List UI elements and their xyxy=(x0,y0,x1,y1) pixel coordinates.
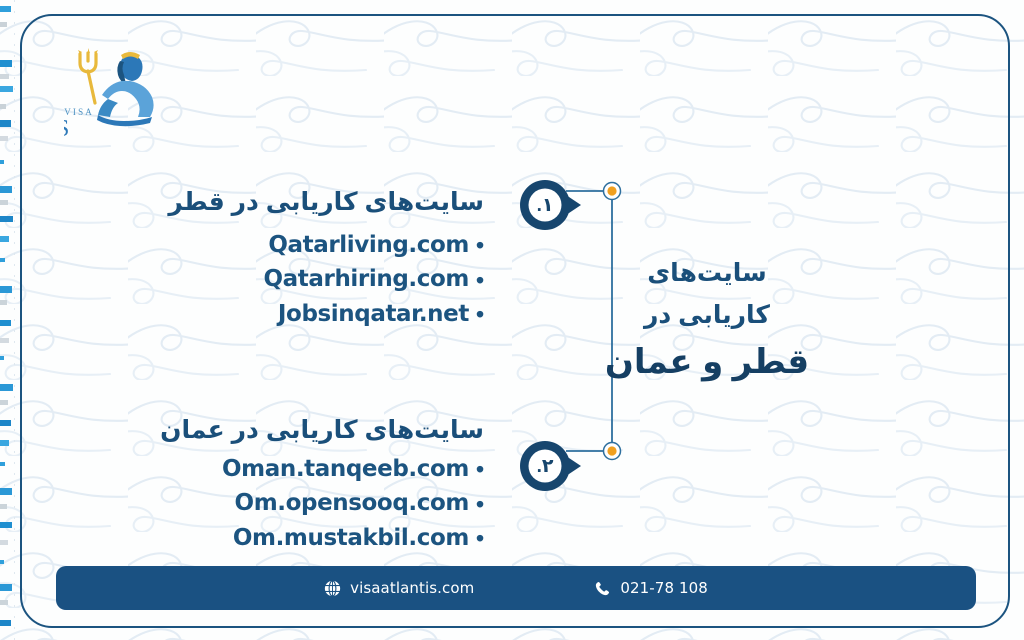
globe-icon xyxy=(324,580,341,597)
list-item[interactable]: •Om.opensooq.com xyxy=(184,486,484,520)
footer-website-text: visaatlantis.com xyxy=(350,579,474,597)
rail-node-1 xyxy=(604,183,621,200)
infographic-page: VISA ATLANTIS ۱. xyxy=(0,0,1024,640)
group-qatar-heading: سایت‌های کاریابی در قطر xyxy=(184,184,484,220)
list-item[interactable]: •Qatarliving.com xyxy=(184,228,484,262)
main-title: سایت‌های کاریابی در قطر و عمان xyxy=(602,252,812,386)
site-link[interactable]: Qatarhiring.com xyxy=(264,263,469,296)
group-qatar: سایت‌های کاریابی در قطر •Qatarliving.com… xyxy=(184,184,484,331)
phone-icon xyxy=(594,580,611,597)
poseidon-figure xyxy=(97,52,154,126)
site-link[interactable]: Oman.tanqeeb.com xyxy=(222,453,469,486)
group-oman: سایت‌های کاریابی در عمان •Oman.tanqeeb.c… xyxy=(184,412,484,555)
bullet-icon: • xyxy=(476,453,484,486)
rail-node-2 xyxy=(604,443,621,460)
list-item[interactable]: •Om.mustakbil.com xyxy=(184,521,484,555)
left-edge-dash-decoration xyxy=(0,0,16,640)
poseidon-trident-logo: VISA ATLANTIS xyxy=(64,41,174,141)
list-item[interactable]: •Oman.tanqeeb.com xyxy=(184,452,484,486)
group-oman-heading: سایت‌های کاریابی در عمان xyxy=(184,412,484,448)
logo-atlantis-text: ATLANTIS xyxy=(64,116,70,141)
bullet-icon: • xyxy=(476,522,484,555)
site-link[interactable]: Qatarliving.com xyxy=(268,229,469,262)
site-link[interactable]: Om.mustakbil.com xyxy=(233,522,469,555)
step-marker-1[interactable]: ۱. xyxy=(519,179,583,231)
bullet-icon: • xyxy=(476,488,484,521)
site-link[interactable]: Om.opensooq.com xyxy=(235,487,469,520)
footer-website[interactable]: visaatlantis.com xyxy=(324,579,474,597)
bullet-icon: • xyxy=(476,298,484,331)
step-marker-2[interactable]: ۲. xyxy=(519,440,583,492)
site-link[interactable]: Jobsinqatar.net xyxy=(278,298,469,331)
main-card: VISA ATLANTIS ۱. xyxy=(20,14,1010,628)
list-item[interactable]: •Qatarhiring.com xyxy=(184,262,484,296)
main-title-line-3: قطر و عمان xyxy=(602,338,812,386)
group-qatar-list: •Qatarliving.com •Qatarhiring.com •Jobsi… xyxy=(184,228,484,331)
group-oman-list: •Oman.tanqeeb.com •Om.opensooq.com •Om.m… xyxy=(184,452,484,555)
trident-icon xyxy=(78,48,98,103)
list-item[interactable]: •Jobsinqatar.net xyxy=(184,297,484,331)
bullet-icon: • xyxy=(476,229,484,262)
footer-bar: visaatlantis.com 021-78 108 xyxy=(56,566,976,610)
step-marker-2-label: ۲. xyxy=(519,440,571,492)
main-title-line-2: کاریابی در xyxy=(602,294,812,336)
footer-phone[interactable]: 021-78 108 xyxy=(594,579,708,597)
footer-phone-text: 021-78 108 xyxy=(620,579,708,597)
bullet-icon: • xyxy=(476,264,484,297)
main-title-line-1: سایت‌های xyxy=(602,252,812,294)
step-marker-1-label: ۱. xyxy=(519,179,571,231)
